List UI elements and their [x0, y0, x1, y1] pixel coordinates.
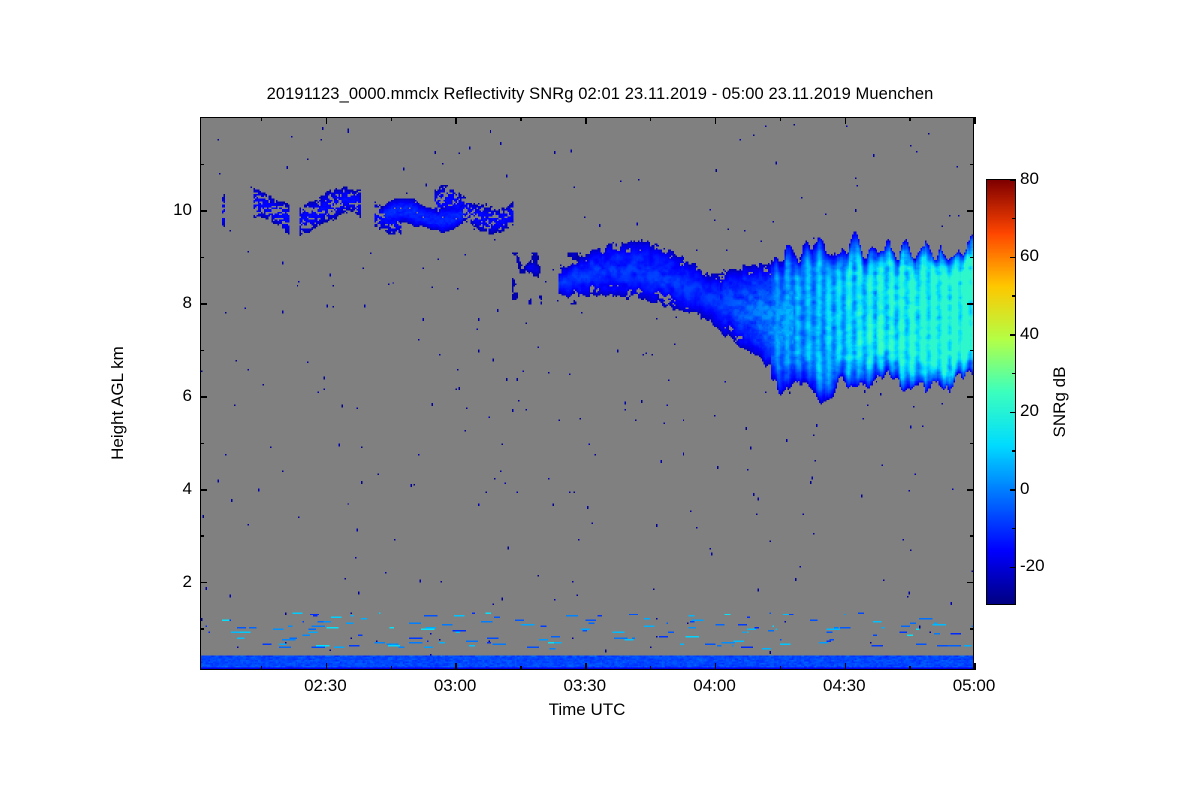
colorbar-tick	[1010, 567, 1016, 569]
colorbar-tick-label: 40	[1020, 324, 1039, 344]
y-tick-minor	[970, 443, 974, 445]
x-tick-major	[974, 117, 976, 124]
y-tick-label: 6	[183, 386, 192, 406]
colorbar-tick-label: 20	[1020, 401, 1039, 421]
reflectivity-heatmap	[201, 118, 973, 669]
colorbar-tick-minor	[1012, 218, 1016, 220]
colorbar-tick-label: 0	[1020, 479, 1029, 499]
x-tick-minor	[650, 117, 652, 121]
y-tick-minor	[970, 535, 974, 537]
x-axis-labels: 02:3003:0003:3004:0004:3005:00	[200, 676, 974, 702]
y-axis-title: Height AGL km	[108, 273, 128, 533]
y-tick-label: 8	[183, 293, 192, 313]
colorbar-tick	[1010, 257, 1016, 259]
x-tick-minor	[520, 117, 522, 121]
y-tick-label: 10	[173, 200, 192, 220]
x-tick-major	[715, 663, 717, 670]
colorbar-tick-minor	[1012, 450, 1016, 452]
y-tick-major	[967, 582, 974, 584]
y-tick-minor	[970, 257, 974, 259]
plot-area[interactable]	[200, 117, 974, 670]
x-tick-major	[326, 663, 328, 670]
colorbar-tick	[1010, 412, 1016, 414]
x-tick-major	[455, 663, 457, 670]
x-tick-label: 05:00	[953, 676, 996, 696]
y-tick-major	[200, 582, 207, 584]
y-tick-minor	[970, 350, 974, 352]
colorbar-tick-label: -20	[1020, 556, 1045, 576]
x-tick-label: 04:00	[693, 676, 736, 696]
colorbar-tick-minor	[1012, 373, 1016, 375]
x-tick-major	[585, 663, 587, 670]
figure-root: 20191123_0000.mmclx Reflectivity SNRg 02…	[0, 0, 1200, 800]
y-tick-major	[200, 489, 207, 491]
x-tick-minor	[909, 666, 911, 670]
x-tick-major	[585, 117, 587, 124]
x-tick-minor	[391, 117, 393, 121]
y-tick-minor	[970, 164, 974, 166]
x-tick-minor	[261, 666, 263, 670]
x-tick-minor	[780, 117, 782, 121]
y-tick-label: 2	[183, 572, 192, 592]
x-tick-minor	[909, 117, 911, 121]
colorbar-tick	[1010, 334, 1016, 336]
colorbar-tick-minor	[1012, 528, 1016, 530]
colorbar-tick	[1010, 489, 1016, 491]
x-tick-major	[845, 117, 847, 124]
y-tick-major	[967, 210, 974, 212]
x-tick-minor	[650, 666, 652, 670]
colorbar-tick-minor	[1012, 295, 1016, 297]
y-tick-minor	[970, 628, 974, 630]
x-tick-minor	[391, 666, 393, 670]
colorbar-gradient	[987, 180, 1015, 604]
y-tick-major	[200, 396, 207, 398]
x-tick-major	[845, 663, 847, 670]
x-tick-major	[455, 117, 457, 124]
x-tick-minor	[520, 666, 522, 670]
y-axis-labels: 108642	[140, 117, 192, 670]
x-tick-label: 03:00	[434, 676, 477, 696]
page-title: 20191123_0000.mmclx Reflectivity SNRg 02…	[0, 85, 1200, 104]
x-tick-label: 02:30	[304, 676, 347, 696]
x-tick-major	[715, 117, 717, 124]
colorbar-tick-label: 80	[1020, 169, 1039, 189]
colorbar[interactable]	[986, 179, 1016, 605]
colorbar-tick	[1010, 179, 1016, 181]
x-tick-major	[326, 117, 328, 124]
x-tick-minor	[261, 117, 263, 121]
y-tick-minor	[200, 628, 204, 630]
y-tick-minor	[200, 257, 204, 259]
x-tick-label: 04:30	[823, 676, 866, 696]
y-tick-minor	[200, 350, 204, 352]
y-tick-minor	[200, 535, 204, 537]
x-axis-title: Time UTC	[200, 700, 974, 720]
x-tick-label: 03:30	[564, 676, 607, 696]
y-tick-minor	[200, 443, 204, 445]
y-tick-major	[200, 303, 207, 305]
y-tick-major	[200, 210, 207, 212]
colorbar-tick-label: 60	[1020, 246, 1039, 266]
y-tick-label: 4	[183, 479, 192, 499]
colorbar-title: SNRg dB	[1050, 302, 1070, 502]
y-tick-major	[967, 303, 974, 305]
x-tick-minor	[780, 666, 782, 670]
y-tick-minor	[200, 164, 204, 166]
y-tick-major	[967, 489, 974, 491]
y-tick-major	[967, 396, 974, 398]
x-tick-major	[974, 663, 976, 670]
